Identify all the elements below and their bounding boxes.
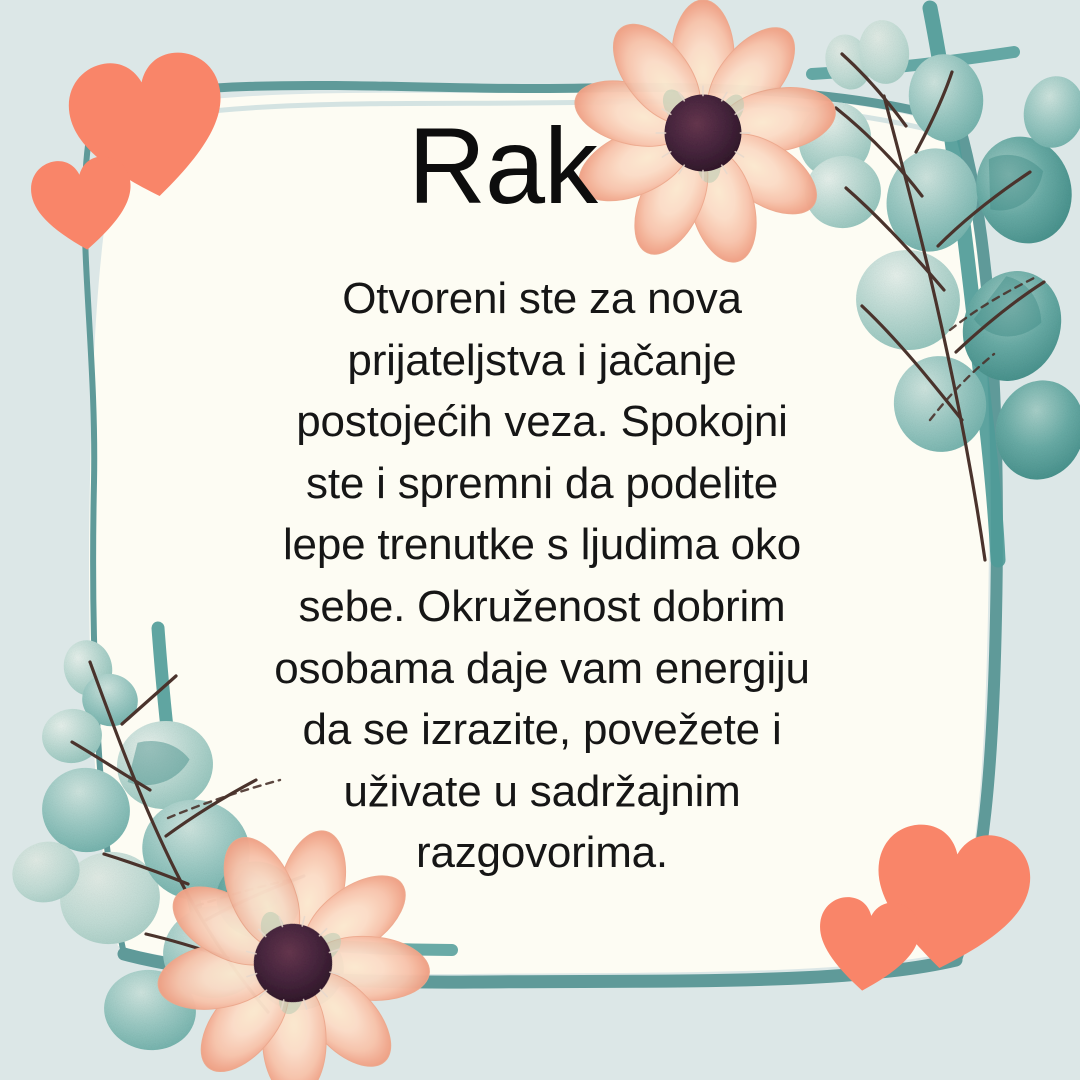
page-title: Rak [0,112,1080,220]
card-text-content: Rak Otvoreni ste za nova prijateljstva i… [0,0,1080,1080]
horoscope-body-text: Otvoreni ste za nova prijateljstva i jač… [272,268,812,884]
poster-canvas: Rak Otvoreni ste za nova prijateljstva i… [0,0,1080,1080]
